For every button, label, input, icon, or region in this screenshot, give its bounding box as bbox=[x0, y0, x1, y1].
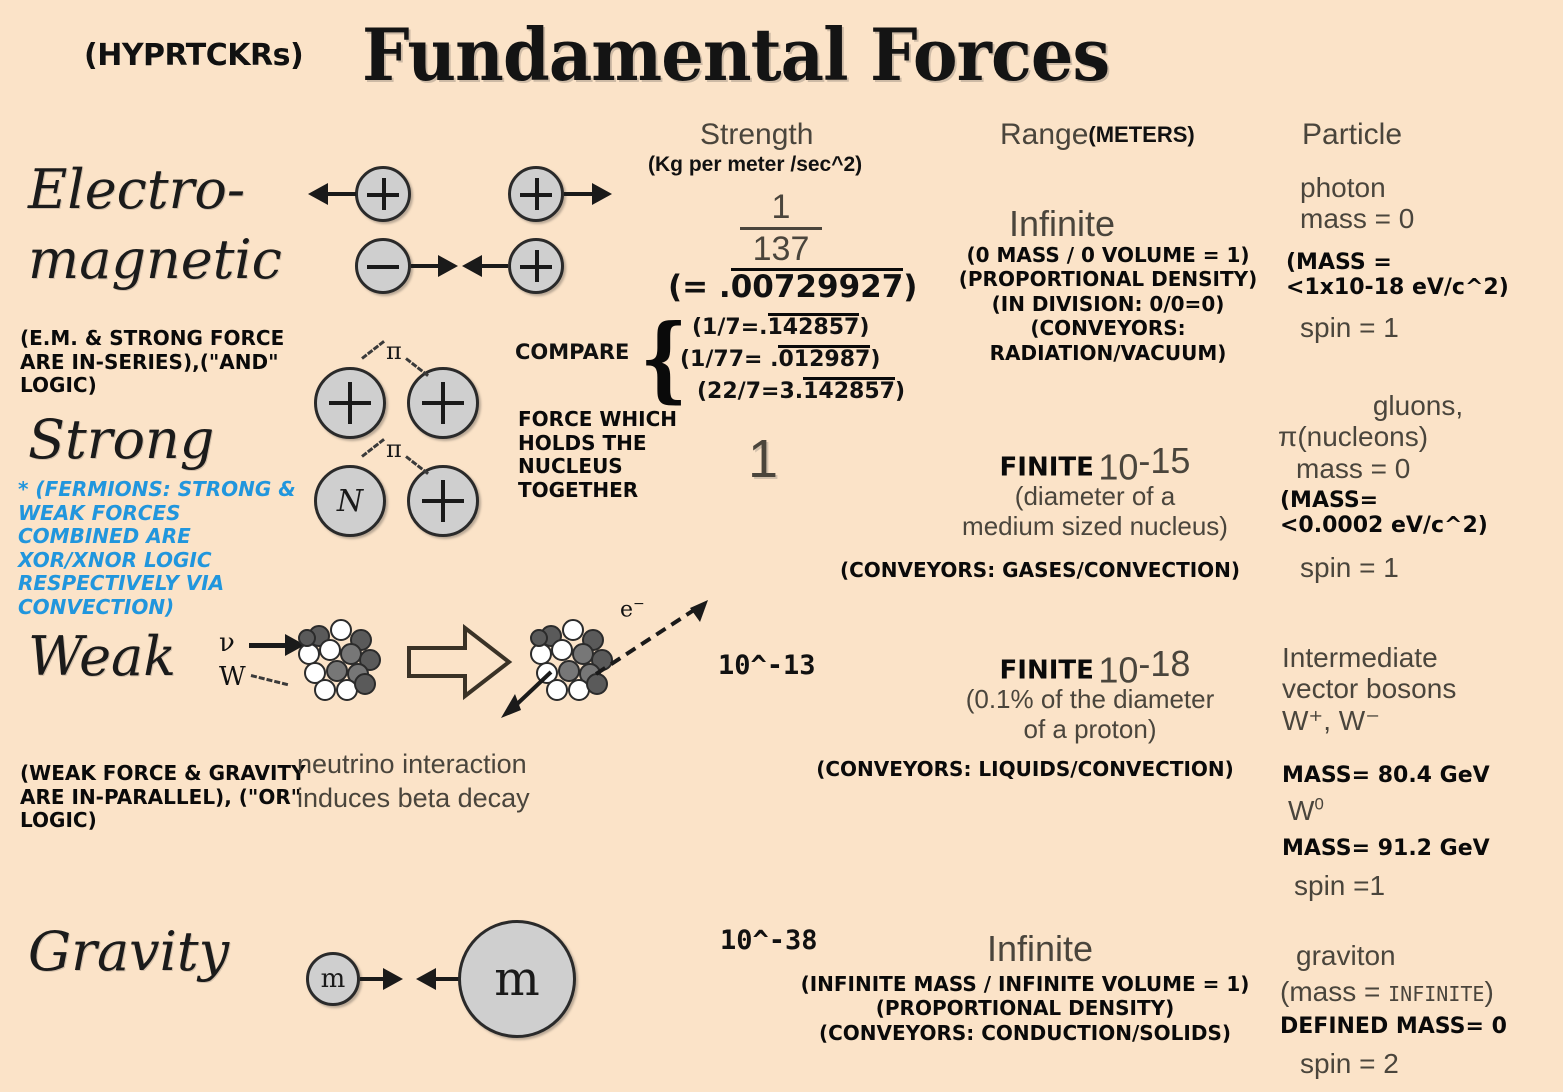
em-particle-mass-bold: (MASS = <1x10-18 eV/c^2) bbox=[1286, 250, 1561, 301]
proton-circle-b bbox=[407, 367, 479, 439]
gravity-range-note-1: (INFINITE MASS / INFINITE VOLUME = 1) bbox=[790, 972, 1260, 996]
gravity-diagram: m m bbox=[300, 920, 620, 1070]
em-particle-name: photon mass = 0 bbox=[1300, 172, 1414, 235]
proton-circle-c bbox=[407, 465, 479, 537]
weak-diagram: ν W bbox=[205, 600, 705, 730]
weak-range-finite: FINITE bbox=[1000, 655, 1094, 685]
weak-particle-spin: spin =1 bbox=[1294, 870, 1385, 901]
compare-value-3: (22/7=3.142857) bbox=[697, 377, 905, 404]
compare-value-2: (1/77= .012987) bbox=[680, 345, 880, 372]
w0-letter: W bbox=[1288, 795, 1314, 826]
force-label-gravity: Gravity bbox=[28, 920, 229, 983]
photon-mass: mass = 0 bbox=[1300, 203, 1414, 234]
plus-sign-icon bbox=[511, 169, 561, 219]
gravity-range-note-2: (PROPORTIONAL DENSITY) bbox=[790, 996, 1260, 1020]
column-header-strength-units: (Kg per meter /sec^2) bbox=[648, 153, 862, 177]
weak-particle-name: Intermediate vector bosons W⁺, W⁻ bbox=[1282, 642, 1562, 736]
note-em-series: (E.M. & STRONG FORCE ARE IN-SERIES),("AN… bbox=[20, 327, 320, 398]
weak-range-desc-2: of a proton) bbox=[925, 715, 1255, 745]
large-mass-circle: m bbox=[458, 920, 576, 1038]
page-title: Fundamental Forces bbox=[362, 12, 1109, 97]
em-range-note-2: (PROPORTIONAL DENSITY) bbox=[948, 267, 1268, 291]
plus-sign-icon bbox=[410, 370, 476, 436]
gravity-range-note-3: (CONVEYORS: CONDUCTION/SOLIDS) bbox=[790, 1021, 1260, 1045]
force-label-electromagnetic-line1: Electro- bbox=[28, 158, 245, 221]
em-particle-spin: spin = 1 bbox=[1300, 312, 1399, 343]
force-label-electromagnetic-line2: magnetic bbox=[28, 228, 282, 291]
fraction-numerator: 1 bbox=[740, 190, 822, 224]
pion-nucleons-label: π(nucleons) bbox=[1278, 421, 1558, 452]
strong-diagram: N π π bbox=[310, 345, 520, 555]
proton-circle-a bbox=[314, 367, 386, 439]
w-boson-label: W bbox=[219, 662, 246, 692]
electron-circle bbox=[355, 238, 411, 294]
gluon-mass-bold-line1: (MASS= bbox=[1280, 488, 1555, 513]
em-range-value: Infinite bbox=[1009, 203, 1115, 245]
strong-range-desc-2: medium sized nucleus) bbox=[910, 512, 1280, 542]
gravity-particle-name: graviton bbox=[1296, 940, 1396, 971]
neutron-circle: N bbox=[314, 465, 386, 537]
proton-circle-1 bbox=[355, 166, 411, 222]
small-mass-circle: m bbox=[306, 952, 360, 1006]
weak-strength-value: 10^-13 bbox=[718, 650, 816, 681]
strong-particle-name: gluons, π(nucleons) mass = 0 bbox=[1278, 390, 1558, 484]
note-weak-parallel: (WEAK FORCE & GRAVITY ARE IN-PARALLEL), … bbox=[20, 762, 310, 833]
em-diagram bbox=[310, 160, 600, 300]
column-header-range: Range(METERS) bbox=[1000, 118, 1195, 152]
em-range-notes: (0 MASS / 0 VOLUME = 1) (PROPORTIONAL DE… bbox=[948, 243, 1268, 365]
gluons-label: gluons, bbox=[1278, 390, 1558, 421]
gluon-mass: mass = 0 bbox=[1278, 453, 1558, 484]
electron-emission-arrow-icon bbox=[590, 592, 730, 682]
range-head-units: (METERS) bbox=[1088, 122, 1194, 147]
graviton-mass-suffix: ) bbox=[1484, 976, 1493, 1007]
em-range-note-3: (IN DIVISION: 0/0=0) bbox=[948, 292, 1268, 316]
em-strength-fraction: 1 137 bbox=[740, 190, 822, 266]
large-mass-label: m bbox=[494, 951, 540, 1007]
note-fermions: * (FERMIONS: STRONG & WEAK FORCES COMBIN… bbox=[18, 478, 308, 620]
gravity-particle-mass: (mass = INFINITE) bbox=[1280, 976, 1494, 1007]
recoil-arrow-icon bbox=[495, 666, 565, 726]
electron-label: e− bbox=[620, 596, 645, 622]
photon-mass-bold-line2: <1x10-18 eV/c^2) bbox=[1286, 275, 1561, 300]
plus-sign-icon bbox=[511, 241, 561, 291]
weak-range-desc: (0.1% of the diameter of a proton) bbox=[925, 685, 1255, 745]
strong-particle-mass-bold: (MASS= <0.0002 eV/c^2) bbox=[1280, 488, 1555, 539]
neutrino-label: ν bbox=[219, 628, 235, 658]
column-header-strength: Strength bbox=[700, 118, 813, 152]
gluon-mass-bold-line2: <0.0002 eV/c^2) bbox=[1280, 513, 1555, 538]
gravity-defined-mass: DEFINED MASS= 0 bbox=[1280, 1014, 1507, 1039]
strong-conveyors: (CONVEYORS: GASES/CONVECTION) bbox=[815, 558, 1265, 582]
weak-range-desc-1: (0.1% of the diameter bbox=[925, 685, 1255, 715]
proton-circle-3 bbox=[508, 238, 564, 294]
em-range-note-1: (0 MASS / 0 VOLUME = 1) bbox=[948, 243, 1268, 267]
weak-caption-line1: neutrino interaction bbox=[297, 748, 530, 782]
small-mass-label: m bbox=[321, 964, 346, 994]
gravity-range-notes: (INFINITE MASS / INFINITE VOLUME = 1) (P… bbox=[790, 972, 1260, 1045]
ivb-line1: Intermediate bbox=[1282, 642, 1562, 673]
graviton-mass-value: INFINITE bbox=[1388, 982, 1484, 1006]
proton-circle-2 bbox=[508, 166, 564, 222]
strong-range-desc-1: (diameter of a bbox=[910, 482, 1280, 512]
weak-particle-mass-w: MASS= 80.4 GeV bbox=[1282, 763, 1490, 788]
note-nucleus-force: FORCE WHICH HOLDS THE NUCLEUS TOGETHER bbox=[518, 408, 718, 502]
plus-sign-icon bbox=[358, 169, 408, 219]
ivb-line2: vector bosons bbox=[1282, 673, 1562, 704]
weak-caption-line2: induces beta decay bbox=[297, 782, 530, 816]
strong-range-desc: (diameter of a medium sized nucleus) bbox=[910, 482, 1280, 542]
em-range-note-4: (CONVEYORS: bbox=[948, 316, 1268, 340]
minus-sign-icon bbox=[358, 241, 408, 291]
plus-sign-icon bbox=[317, 370, 383, 436]
strong-range-finite: FINITE bbox=[1000, 452, 1094, 482]
weak-diagram-caption: neutrino interaction induces beta decay bbox=[297, 748, 530, 816]
force-label-strong: Strong bbox=[28, 408, 214, 471]
em-strength-decimal: (= .00729927) bbox=[668, 268, 917, 305]
photon-label: photon bbox=[1300, 172, 1414, 203]
column-header-particle: Particle bbox=[1302, 118, 1402, 152]
strong-range-exponent: -15 bbox=[1138, 440, 1190, 481]
gravity-particle-spin: spin = 2 bbox=[1300, 1048, 1399, 1079]
gravity-strength-value: 10^-38 bbox=[720, 925, 818, 956]
nucleus-icon bbox=[293, 616, 385, 708]
hyprtckrs-label: (HYPRTCKRs) bbox=[84, 38, 303, 73]
graviton-mass-prefix: (mass = bbox=[1280, 976, 1380, 1007]
strong-strength-value: 1 bbox=[748, 428, 778, 490]
weak-particle-w0-symbol: W0 bbox=[1288, 795, 1324, 826]
pion-label-top: π bbox=[386, 337, 402, 365]
weak-conveyors: (CONVEYORS: LIQUIDS/CONVECTION) bbox=[790, 757, 1260, 781]
em-range-note-5: RADIATION/VACUUM) bbox=[948, 341, 1268, 365]
force-label-weak: Weak bbox=[28, 625, 176, 688]
plus-sign-icon bbox=[410, 468, 476, 534]
fraction-denominator: 137 bbox=[740, 232, 822, 266]
pion-label-bottom: π bbox=[386, 435, 402, 463]
weak-range-exponent: -18 bbox=[1138, 643, 1190, 684]
compare-value-1: (1/7=.142857) bbox=[692, 313, 869, 340]
gravity-range-value: Infinite bbox=[987, 928, 1093, 970]
w0-superscript: 0 bbox=[1314, 795, 1323, 814]
range-head-word: Range bbox=[1000, 118, 1088, 151]
nucleus-before-decay bbox=[293, 616, 385, 708]
compare-label: COMPARE bbox=[515, 340, 629, 364]
w-symbols: W⁺, W⁻ bbox=[1282, 705, 1562, 736]
photon-mass-bold-line1: (MASS = bbox=[1286, 250, 1561, 275]
weak-particle-mass-w0: MASS= 91.2 GeV bbox=[1282, 836, 1490, 861]
strong-particle-spin: spin = 1 bbox=[1300, 552, 1399, 583]
